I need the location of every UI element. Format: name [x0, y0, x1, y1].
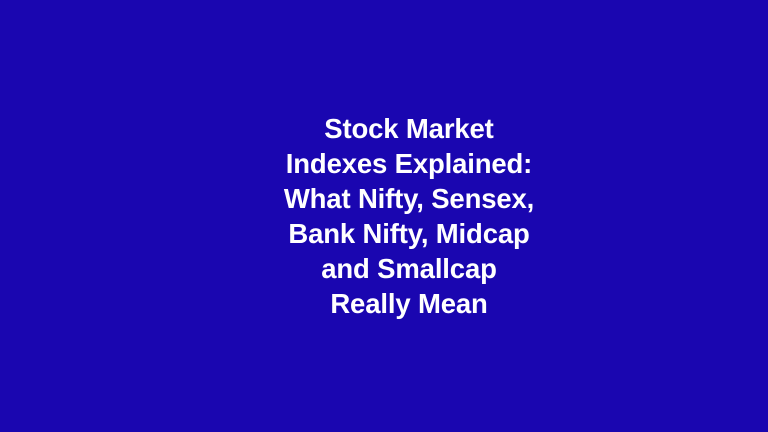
title-line-6: Really Mean — [330, 286, 487, 321]
title-line-2: Indexes Explained: — [286, 146, 532, 181]
title-line-5: and Smallcap — [321, 251, 497, 286]
title-line-3: What Nifty, Sensex, — [284, 181, 534, 216]
title-block: Stock Market Indexes Explained: What Nif… — [0, 0, 768, 432]
title-line-1: Stock Market — [324, 111, 493, 146]
poster-canvas: Stock Market Indexes Explained: What Nif… — [0, 0, 768, 432]
title-line-4: Bank Nifty, Midcap — [288, 216, 529, 251]
